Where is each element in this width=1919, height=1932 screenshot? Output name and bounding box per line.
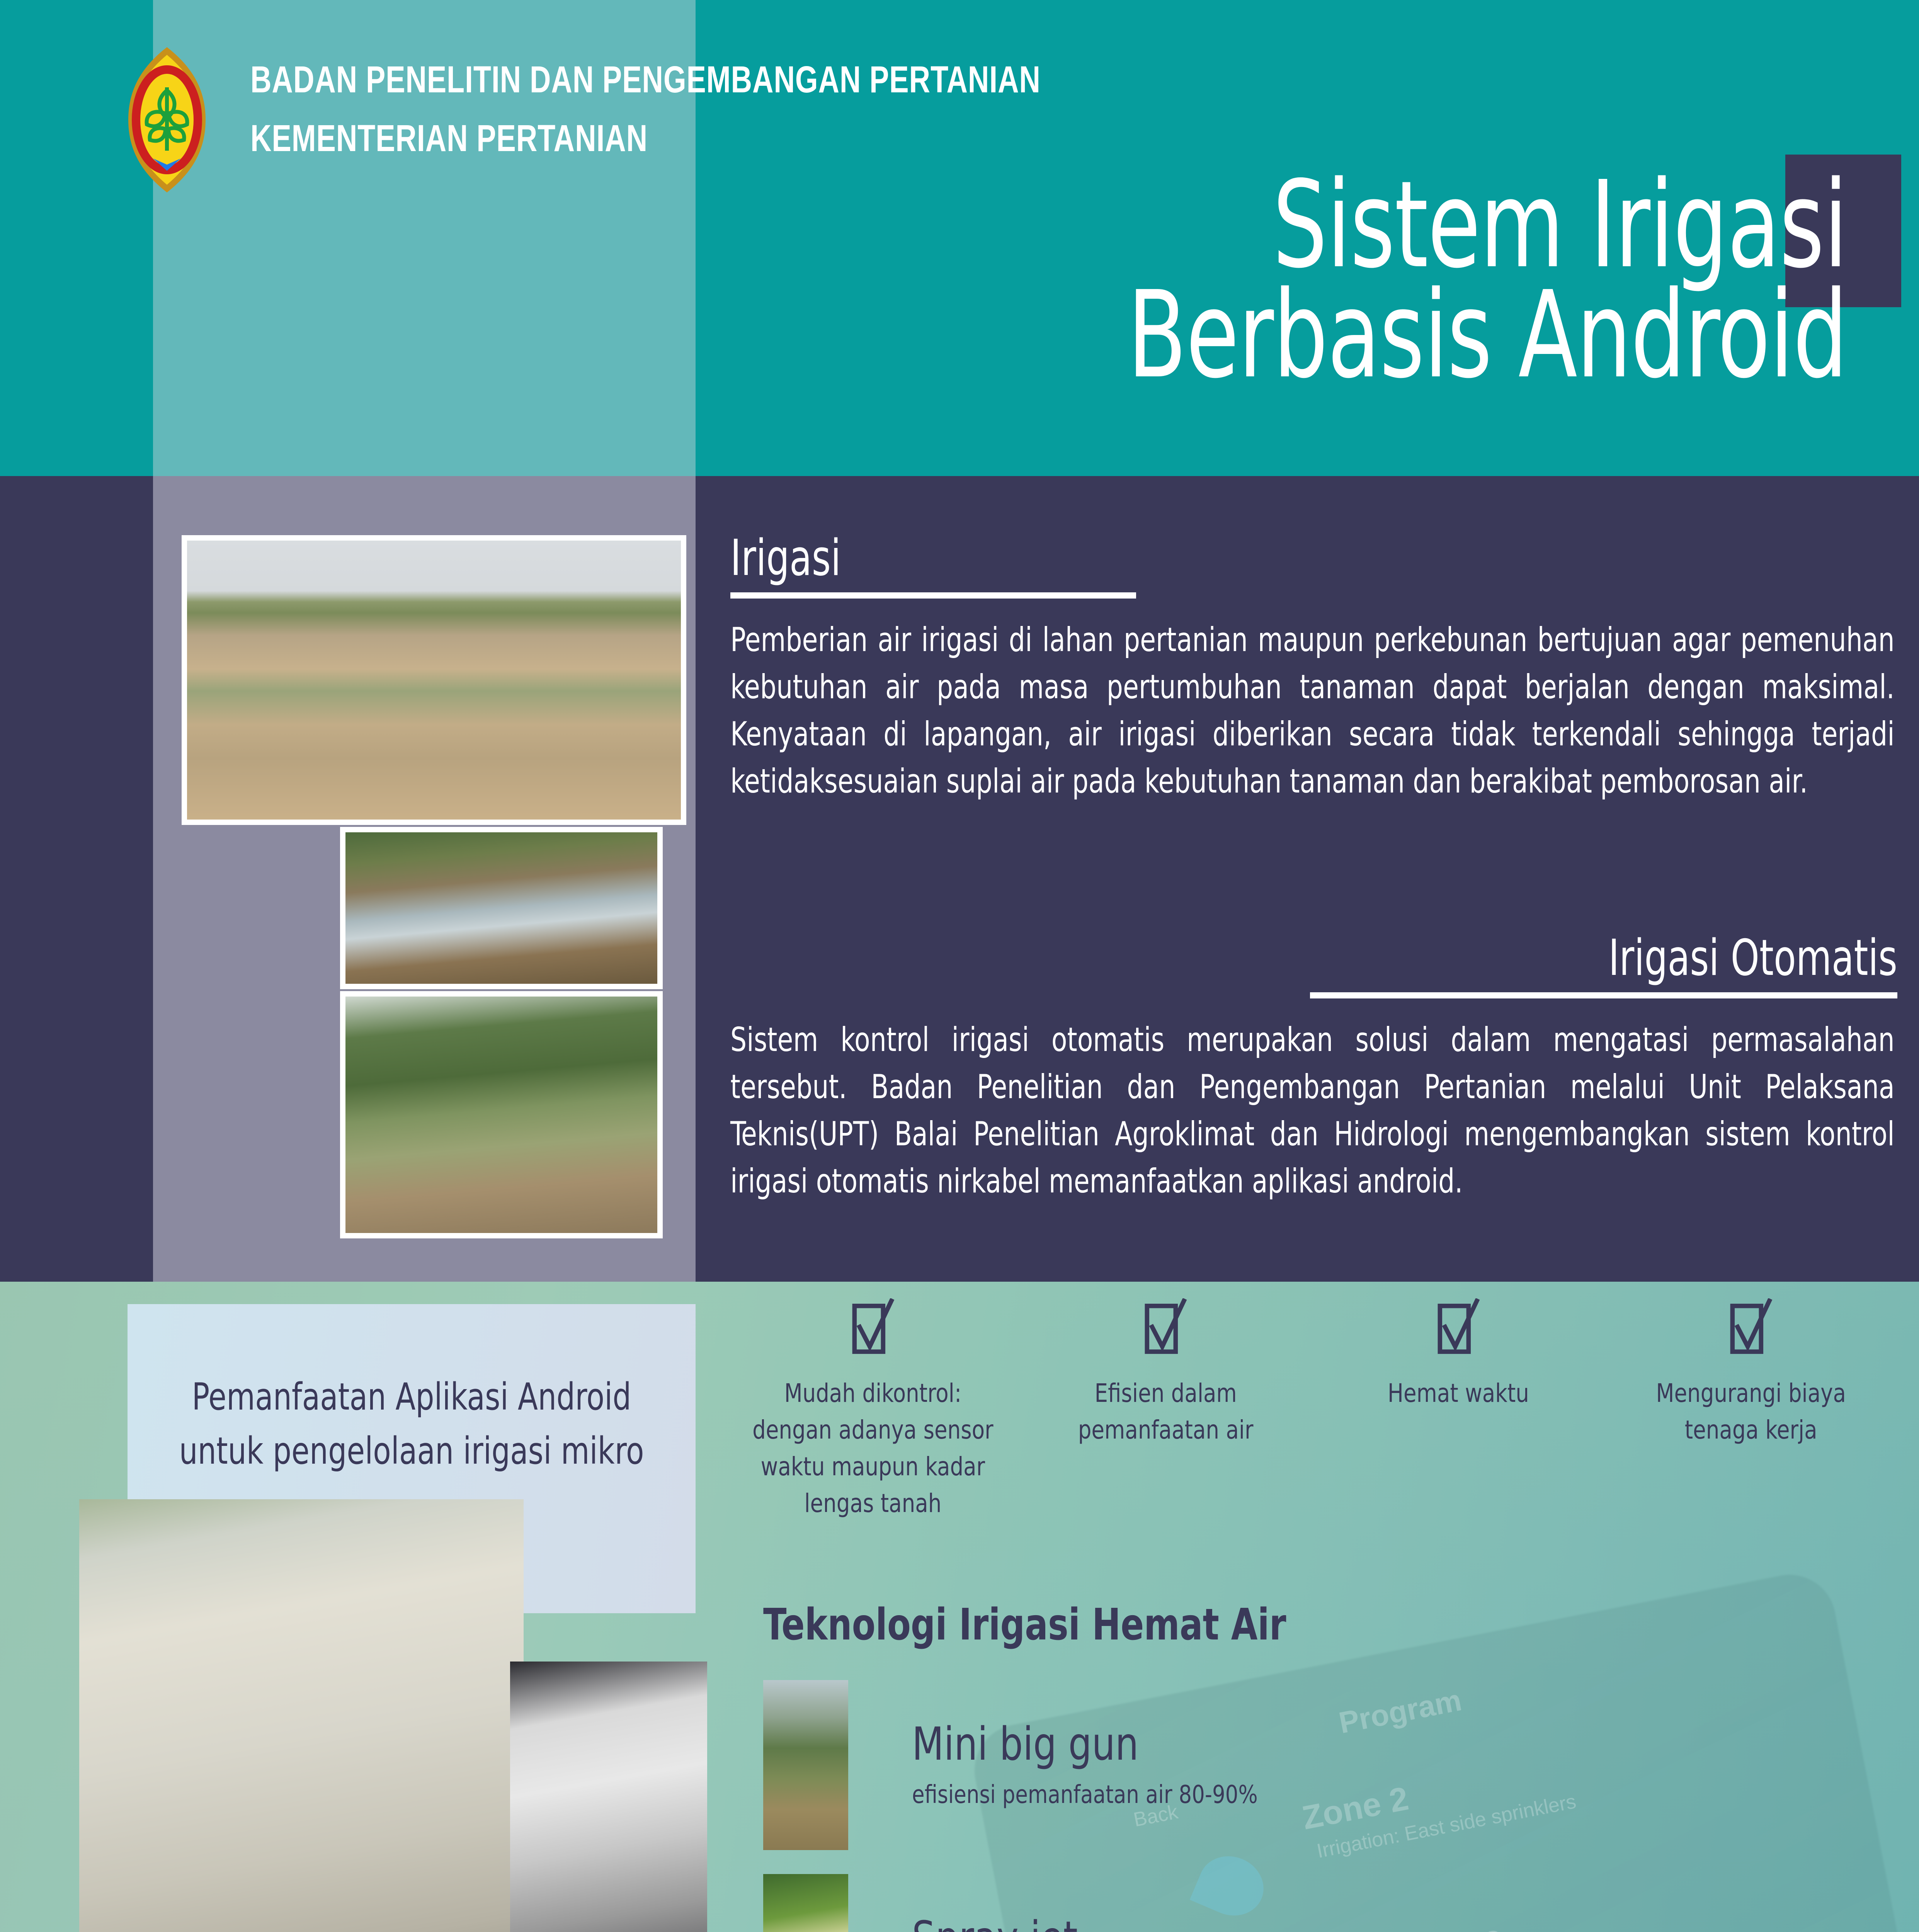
section-irigasi-heading: Irigasi: [730, 529, 1687, 587]
section-irigasi-otomatis: Irigasi Otomatis Sistem kontrol irigasi …: [730, 929, 1897, 1205]
benefit-item: Mudah dikontrol: dengan adanya sensor wa…: [726, 1298, 1019, 1522]
technology-efficiency: efisiensi pemanfaatan air 80-90%: [912, 1781, 1258, 1809]
photo-panel-kontrol-surya: [340, 991, 663, 1238]
technology-item: Mini big gun efisiensi pemanfaatan air 8…: [763, 1675, 1884, 1855]
benefit-item: Hemat waktu: [1312, 1298, 1605, 1522]
benefit-item: Efisien dalam pemanfaatan air: [1019, 1298, 1312, 1522]
photo-spray-jet: [763, 1874, 848, 1932]
technology-list: Mini big gun efisiensi pemanfaatan air 8…: [763, 1675, 1884, 1932]
checkbox-checked-icon: [1728, 1298, 1774, 1355]
section-otomatis-body: Sistem kontrol irigasi otomatis merupaka…: [730, 1016, 1895, 1205]
left-panel-title-line1: Pemanfaatan Aplikasi Android: [162, 1370, 662, 1424]
left-panel-title: Pemanfaatan Aplikasi Android untuk penge…: [162, 1370, 662, 1478]
photo-pipa-saluran-air: [340, 827, 663, 989]
photo-modul-relay: [510, 1662, 707, 1932]
checkbox-checked-icon: [1436, 1298, 1481, 1355]
benefits-row: Mudah dikontrol: dengan adanya sensor wa…: [726, 1298, 1897, 1522]
benefit-label: Mudah dikontrol: dengan adanya sensor wa…: [752, 1375, 994, 1522]
checkbox-checked-icon: [850, 1298, 896, 1355]
technology-name: Spray jet: [912, 1915, 1250, 1932]
org-line-1: BADAN PENELITIN DAN PENGEMBANGAN PERTANI…: [250, 58, 1155, 101]
technology-heading: Teknologi Irigasi Hemat Air: [763, 1600, 1286, 1650]
section-otomatis-rule: [1310, 992, 1897, 998]
benefit-item: Mengurangi biaya tenaga kerja: [1605, 1298, 1898, 1522]
poster-root: BADAN PENELITIN DAN PENGEMBANGAN PERTANI…: [0, 0, 1919, 1932]
section-irigasi-body: Pemberian air irigasi di lahan pertanian…: [730, 616, 1895, 805]
section-irigasi-rule: [730, 592, 1136, 599]
kementerian-pertanian-logo: [90, 43, 244, 197]
benefit-label: Efisien dalam pemanfaatan air: [1078, 1375, 1253, 1448]
section-otomatis-heading: Irigasi Otomatis: [941, 929, 1897, 987]
photo-mini-big-gun: [763, 1680, 848, 1850]
technology-item: Spray jet efisiensi pemanfaatan air 80-9…: [763, 1869, 1884, 1932]
benefit-label: Mengurangi biaya tenaga kerja: [1656, 1375, 1846, 1448]
photo-panel-kontroler-terbuka: [79, 1499, 524, 1932]
checkbox-checked-icon: [1143, 1298, 1188, 1355]
technology-name: Mini big gun: [912, 1721, 1250, 1767]
title-line-1: Sistem Irigasi: [734, 170, 1847, 280]
organization-names: BADAN PENELITIN DAN PENGEMBANGAN PERTANI…: [250, 58, 1410, 160]
org-line-2: KEMENTERIAN PERTANIAN: [250, 117, 1155, 160]
photo-sawah-irigasi: [182, 535, 686, 825]
title-line-2: Berbasis Android: [734, 280, 1847, 390]
section-irigasi: Irigasi Pemberian air irigasi di lahan p…: [730, 529, 1897, 805]
left-panel-title-line2: untuk pengelolaan irigasi mikro: [162, 1424, 662, 1478]
poster-title: Sistem Irigasi Berbasis Android: [456, 170, 1847, 390]
benefit-label: Hemat waktu: [1388, 1375, 1529, 1412]
